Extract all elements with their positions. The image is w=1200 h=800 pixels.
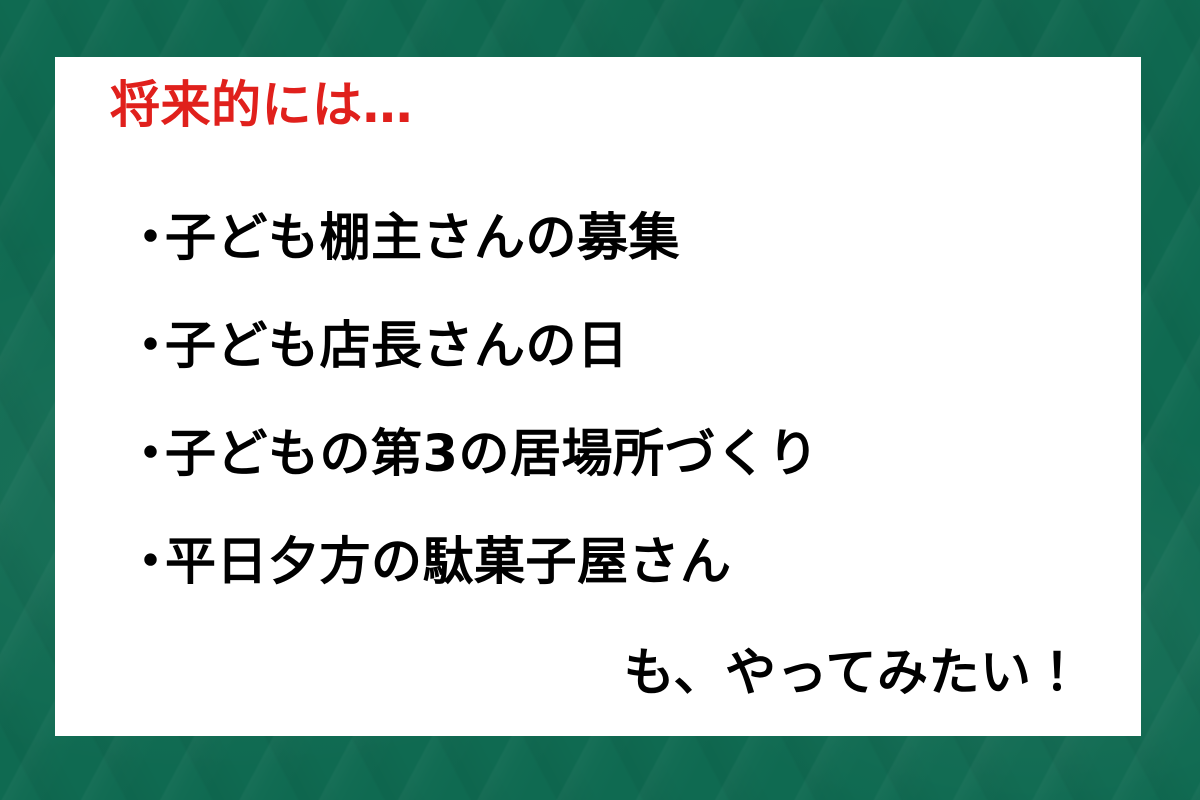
list-item: ・ 子ども店長さんの日 [125,293,1123,401]
list-item: ・ 子どもの第3の居場所づくり [125,401,1123,509]
list-item-label: 平日夕方の駄菓子屋さん [165,509,732,617]
bullet-point-icon: ・ [125,509,165,617]
bullet-point-icon: ・ [125,401,165,509]
list-item: ・ 子ども棚主さんの募集 [125,185,1123,293]
slide-root: 将来的には… ・ 子ども棚主さんの募集 ・ 子ども店長さんの日 ・ 子どもの第3… [0,0,1200,800]
list-item-label: 子ども店長さんの日 [165,293,629,401]
list-item-label: 子ども棚主さんの募集 [165,185,680,293]
list-item: ・ 平日夕方の駄菓子屋さん [125,509,1123,617]
page-title: 将来的には… [110,79,413,132]
closing-statement: も、やってみたい！ [624,646,1083,702]
content-card: 将来的には… ・ 子ども棚主さんの募集 ・ 子ども店長さんの日 ・ 子どもの第3… [55,57,1141,736]
bullet-point-icon: ・ [125,185,165,293]
bullet-list: ・ 子ども棚主さんの募集 ・ 子ども店長さんの日 ・ 子どもの第3の居場所づくり… [125,185,1123,617]
list-item-label: 子どもの第3の居場所づくり [165,401,819,509]
bullet-point-icon: ・ [125,293,165,401]
